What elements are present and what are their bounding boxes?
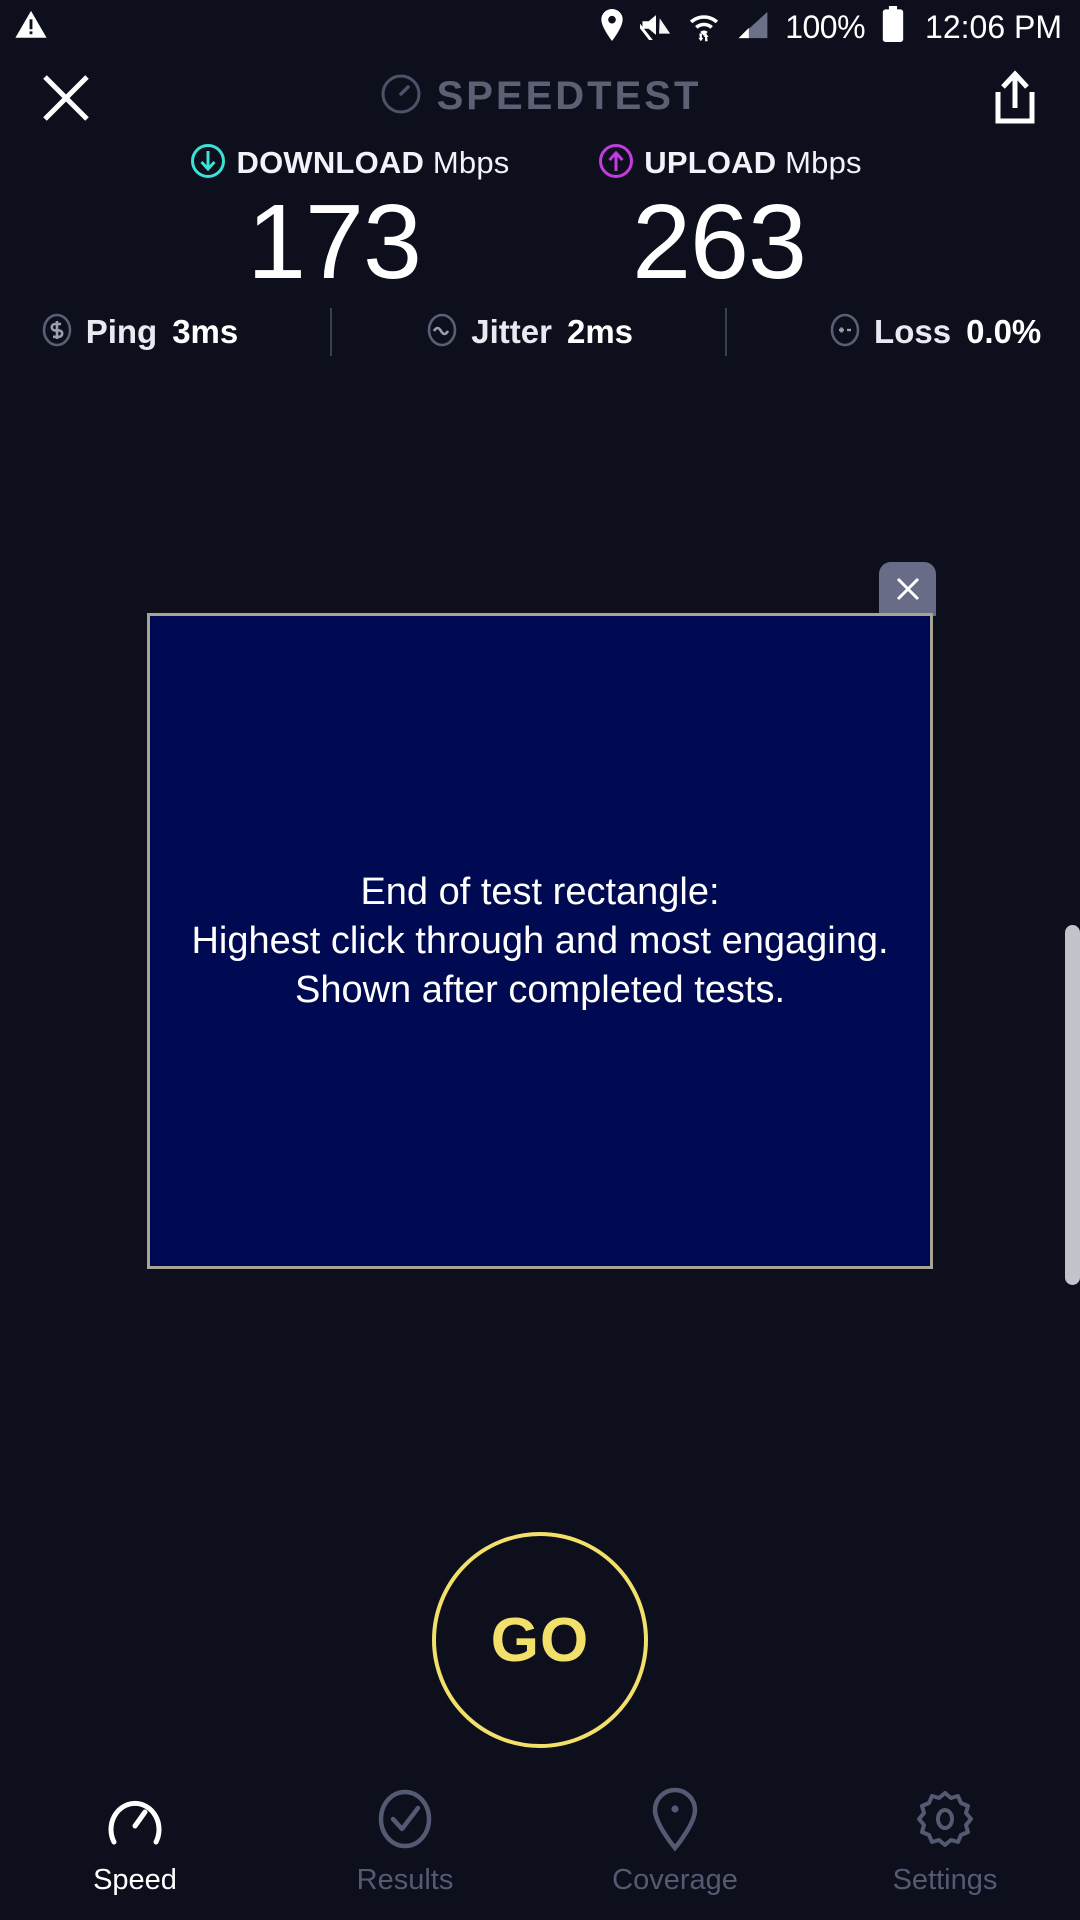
- jitter-icon: [424, 312, 460, 353]
- download-header: DOWNLOAD Mbps: [160, 140, 540, 186]
- battery-icon: [880, 6, 906, 49]
- download-label: DOWNLOAD Mbps: [236, 145, 509, 181]
- wifi-icon: [687, 8, 721, 47]
- location-pin-icon: [599, 9, 625, 46]
- nav-label-settings: Settings: [893, 1864, 998, 1897]
- loss-icon: [827, 312, 863, 353]
- metrics-row: Ping 3ms Jitter 2ms: [0, 300, 1080, 364]
- metric-ping-label: Ping: [86, 313, 158, 351]
- check-circle-icon: [374, 1786, 436, 1852]
- metric-jitter-value: 2ms: [567, 313, 633, 351]
- upload-label: UPLOAD Mbps: [644, 145, 862, 181]
- status-bar-left: [14, 8, 48, 47]
- metric-jitter: Jitter 2ms: [424, 312, 633, 353]
- cellular-signal-icon: [736, 9, 770, 46]
- warning-triangle-icon: [14, 8, 48, 47]
- ad-close-button[interactable]: [879, 562, 936, 616]
- battery-percent-label: 100%: [785, 9, 865, 46]
- ad-line-1: End of test rectangle:: [191, 868, 888, 917]
- go-button-label: GO: [491, 1605, 589, 1676]
- upload-arrow-icon: [598, 143, 634, 184]
- status-bar-right: 100% 12:06 PM: [599, 0, 1062, 54]
- download-arrow-icon: [190, 143, 226, 184]
- ad-line-2: Highest click through and most engaging.: [191, 917, 888, 966]
- nav-label-results: Results: [357, 1864, 454, 1897]
- nav-item-coverage[interactable]: Coverage: [540, 1770, 810, 1920]
- metric-loss-label: Loss: [874, 313, 951, 351]
- nav-item-speed[interactable]: Speed: [0, 1770, 270, 1920]
- status-bar: 100% 12:06 PM: [0, 0, 1080, 54]
- go-button[interactable]: GO: [432, 1532, 648, 1748]
- download-result: DOWNLOAD Mbps 173: [160, 140, 540, 294]
- nav-label-speed: Speed: [93, 1864, 177, 1897]
- ad-line-3: Shown after completed tests.: [191, 966, 888, 1015]
- metric-ping-value: 3ms: [172, 313, 238, 351]
- ad-text: End of test rectangle: Highest click thr…: [175, 868, 904, 1015]
- speedtest-app-screen: 100% 12:06 PM: [0, 0, 1080, 1920]
- scrollbar-thumb[interactable]: [1065, 925, 1080, 1285]
- share-button[interactable]: [986, 68, 1044, 130]
- download-value: 173: [128, 190, 540, 294]
- upload-header: UPLOAD Mbps: [540, 140, 920, 186]
- results-panel: DOWNLOAD Mbps 173 UPLOAD Mbps 263: [0, 140, 1080, 294]
- metric-loss-value: 0.0%: [966, 313, 1041, 351]
- metric-divider: [725, 308, 727, 356]
- mute-icon: [640, 10, 672, 45]
- metric-ping: Ping 3ms: [39, 312, 239, 353]
- gear-icon: [913, 1786, 977, 1852]
- upload-value: 263: [518, 190, 920, 294]
- speedometer-icon: [379, 72, 423, 121]
- metric-loss: Loss 0.0%: [827, 312, 1041, 353]
- metric-jitter-label: Jitter: [471, 313, 552, 351]
- metric-divider: [330, 308, 332, 356]
- clock-label: 12:06 PM: [925, 9, 1062, 46]
- brand-title: SPEEDTEST: [437, 74, 702, 119]
- nav-item-settings[interactable]: Settings: [810, 1770, 1080, 1920]
- ad-banner[interactable]: End of test rectangle: Highest click thr…: [147, 613, 933, 1269]
- location-pin-icon: [644, 1786, 706, 1852]
- app-header: SPEEDTEST: [0, 56, 1080, 142]
- ping-icon: [39, 312, 75, 353]
- speedometer-icon: [104, 1786, 166, 1852]
- bottom-navigation: Speed Results Coverage: [0, 1770, 1080, 1920]
- nav-label-coverage: Coverage: [612, 1864, 738, 1897]
- brand-logo: SPEEDTEST: [0, 72, 1080, 121]
- upload-result: UPLOAD Mbps 263: [540, 140, 920, 294]
- nav-item-results[interactable]: Results: [270, 1770, 540, 1920]
